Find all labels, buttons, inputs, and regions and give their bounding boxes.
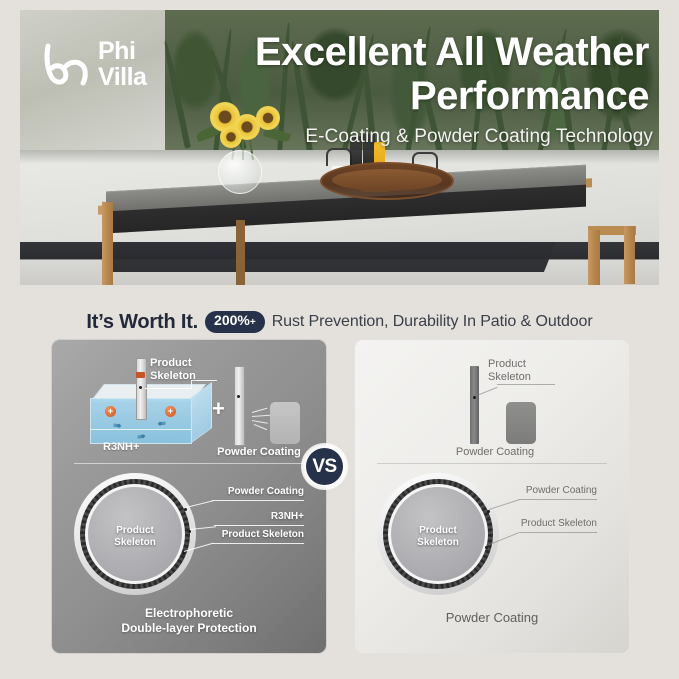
panel-powder-coating: Product Skeleton Powder Coating Product … [354,339,630,654]
callout-dot [485,546,488,549]
hero-banner: Phi Villa Excellent All Weather Performa… [20,10,659,285]
powder-gun [270,402,300,444]
spray-particle [487,408,502,412]
coating-target-rod [234,366,245,446]
rod-dot [473,396,476,399]
electrophoresis-tank: + + ➠ ➠ ➠ R3NH+ [90,384,210,442]
callout-leader [186,500,213,508]
product-core: Product Skeleton [391,487,485,581]
callout-underline [519,532,597,533]
spray-particle [252,415,270,417]
spray-particle [487,415,505,416]
callout-underline [212,500,304,501]
vs-badge: VS [301,443,348,490]
callout-underline [519,499,597,500]
powder-gun [506,402,536,444]
coating-rod-dot [237,395,240,398]
hero-headline: Excellent All Weather Performance [20,30,649,118]
spray-particle [487,420,503,423]
panel-caption: Electrophoretic Double-layer Protection [52,606,326,636]
caption-line2: Double-layer Protection [52,621,326,636]
skeleton-label-line1: Product [150,357,220,370]
product-core: Product Skeleton [88,487,182,581]
caption-line1: Electrophoretic [52,606,326,621]
core-label: Product Skeleton [88,525,182,549]
callout-label-powder-coating: Powder Coating [204,486,304,498]
core-label-line2: Skeleton [88,537,182,549]
panel-caption: Powder Coating [355,610,629,625]
callout-label-product-skeleton: Product Skeleton [196,529,304,541]
hero-text-overlay: Phi Villa Excellent All Weather Performa… [20,10,659,285]
callout-dot [487,510,490,513]
vs-label: VS [306,448,343,485]
skeleton-label-line2: Skeleton [150,370,220,383]
worth-it-heading: It’s Worth It. 200%+ Rust Prevention, Du… [0,309,679,335]
callout-underline [214,525,304,526]
spray-particle [252,408,268,413]
worth-it-lead: It’s Worth It. [86,311,198,334]
panel-divider [74,463,304,464]
panel-divider [377,463,607,464]
rod-dot [139,386,142,389]
skeleton-leader-underline [497,384,555,385]
callout-dot [188,530,191,533]
hero-subheadline: E-Coating & Powder Coating Technology [20,126,653,148]
panel-electrophoretic: + + ➠ ➠ ➠ R3NH+ Product Skeleton + [51,339,327,654]
core-label-line1: Product [391,525,485,537]
callout-dot [182,552,185,555]
product-skeleton-rod [136,358,147,420]
bath-label: R3NH+ [103,441,139,453]
plus-sign: + [212,398,225,420]
powder-coating-label: Powder Coating [440,446,550,459]
skeleton-label-line2: Skeleton [488,371,558,384]
callout-leader [489,499,520,510]
comparison-section: + + ➠ ➠ ➠ R3NH+ Product Skeleton + [51,339,628,652]
core-label-line2: Skeleton [391,537,485,549]
product-skeleton-rod [470,366,479,444]
powder-coating-label: Powder Coating [204,446,314,459]
positive-ion-icon: + [165,406,176,417]
skeleton-leader-line [477,387,498,396]
spray-particle [489,424,502,429]
callout-label-product-skeleton: Product Skeleton [489,518,597,530]
badge-value: 200% [214,313,250,327]
status-badge: 200%+ [205,311,265,333]
worth-it-trailing: Rust Prevention, Durability In Patio & O… [272,313,593,331]
skeleton-label-line1: Product [488,358,558,371]
hero-headline-line2: Performance [20,74,649,118]
particle-icon: ➠ [112,418,123,432]
rod-clip [136,372,145,378]
particle-icon: ➠ [156,417,167,431]
positive-ion-icon: + [105,406,116,417]
callout-label-powder-coating: Powder Coating [497,485,597,497]
callout-label-r3nh: R3NH+ [204,511,304,523]
callout-dot [184,508,187,511]
core-label-line1: Product [88,525,182,537]
skeleton-label: Product Skeleton [488,358,558,384]
skeleton-label: Product Skeleton [150,357,220,383]
callout-underline [212,543,304,544]
hero-headline-line1: Excellent All Weather [255,30,649,74]
spray-particle [254,424,267,430]
core-label: Product Skeleton [391,525,485,549]
skeleton-leader-line [145,388,191,389]
badge-suffix: + [250,316,256,330]
